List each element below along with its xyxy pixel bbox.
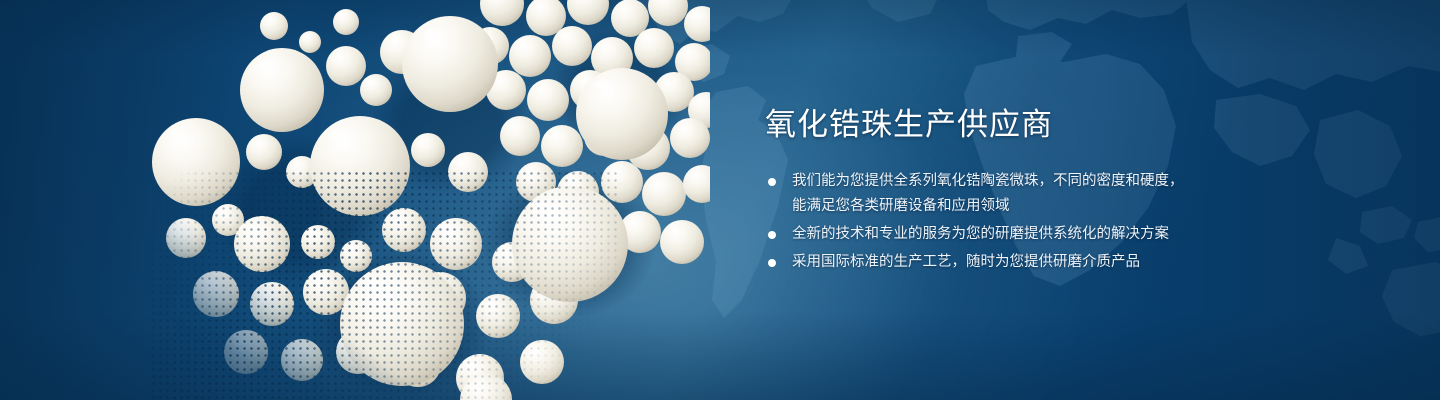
list-item: 我们能为您提供全系列氧化锆陶瓷微珠，不同的密度和硬度， 能满足您各类研磨设备和应…: [765, 169, 1385, 219]
list-item-line1: 全新的技术和专业的服务为您的研磨提供系统化的解决方案: [792, 226, 1169, 242]
bullet-dot-icon: [768, 259, 776, 267]
list-item-line1: 我们能为您提供全系列氧化锆陶瓷微珠，不同的密度和硬度，: [792, 173, 1184, 189]
hero-banner: 氧化锆珠生产供应商 我们能为您提供全系列氧化锆陶瓷微珠，不同的密度和硬度， 能满…: [0, 0, 1440, 400]
list-item-line1: 采用国际标准的生产工艺，随时为您提供研磨介质产品: [792, 254, 1140, 270]
bullet-dot-icon: [768, 178, 776, 186]
banner-copy: 氧化锆珠生产供应商 我们能为您提供全系列氧化锆陶瓷微珠，不同的密度和硬度， 能满…: [765, 106, 1385, 278]
list-item-line2: 能满足您各类研磨设备和应用领域: [792, 194, 1385, 219]
page-title: 氧化锆珠生产供应商: [765, 106, 1385, 143]
list-item: 采用国际标准的生产工艺，随时为您提供研磨介质产品: [765, 250, 1385, 275]
list-item: 全新的技术和专业的服务为您的研磨提供系统化的解决方案: [765, 222, 1385, 247]
feature-list: 我们能为您提供全系列氧化锆陶瓷微珠，不同的密度和硬度， 能满足您各类研磨设备和应…: [765, 169, 1385, 275]
zirconia-beads-photo: [150, 0, 710, 400]
bullet-dot-icon: [768, 231, 776, 239]
